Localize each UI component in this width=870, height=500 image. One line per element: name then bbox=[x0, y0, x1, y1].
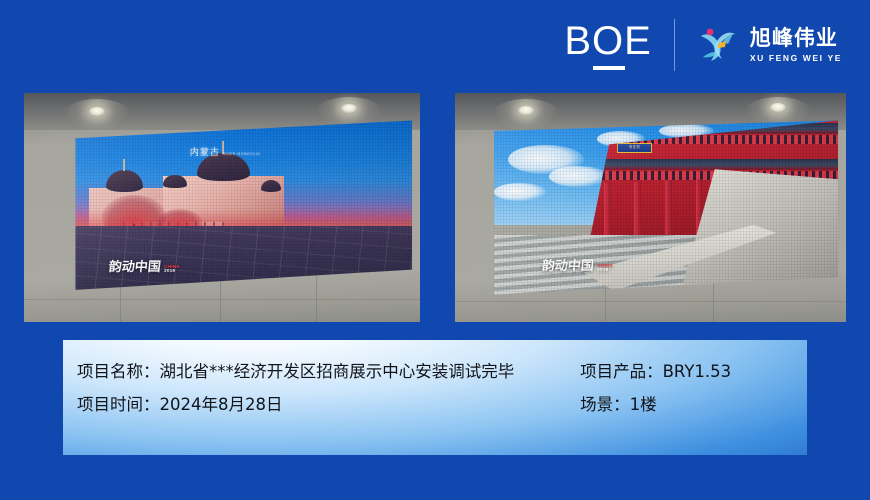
watermark-cn: 韵动中国 bbox=[108, 256, 162, 275]
overlay-title-en: INNER MONGOLIA bbox=[222, 152, 260, 156]
ceiling-spotlight bbox=[518, 106, 534, 115]
project-time-cell: 项目时间：2024年8月28日 bbox=[77, 395, 580, 415]
ceiling-spotlight bbox=[341, 104, 357, 113]
boe-underline-icon bbox=[593, 66, 625, 70]
watermark-en-bottom: 2019 bbox=[164, 269, 180, 274]
watermark-en: CHINA 2019 bbox=[597, 264, 613, 274]
cloud bbox=[549, 166, 607, 187]
temple-dome-small bbox=[163, 175, 187, 189]
logo-lockup: BOE 旭峰伟业 XU FENG WEI YE bbox=[564, 16, 842, 74]
ceiling-spotlight bbox=[770, 103, 786, 112]
lower-eave bbox=[584, 159, 839, 169]
partner-name-block: 旭峰伟业 XU FENG WEI YE bbox=[750, 26, 842, 64]
partner-name-cn: 旭峰伟业 bbox=[750, 26, 842, 50]
header-bar: BOE 旭峰伟业 XU FENG WEI YE bbox=[0, 0, 870, 90]
project-info-row: 项目名称：湖北省***经济开发区招商展示中心安装调试完毕 项目产品：BRY1.5… bbox=[77, 362, 807, 382]
watermark-en: CHINA 2019 bbox=[164, 265, 180, 275]
watermark-en-bottom: 2019 bbox=[597, 268, 613, 273]
watermark-cn: 韵动中国 bbox=[541, 255, 595, 274]
project-scene-text: 场景：1楼 bbox=[580, 395, 657, 414]
wall-base-line bbox=[455, 301, 846, 302]
watermark-left: 韵动中国 CHINA 2019 bbox=[109, 256, 180, 275]
building-spire bbox=[123, 159, 125, 171]
partner-name-en: XU FENG WEI YE bbox=[750, 52, 842, 64]
plaque-text: 崇圣祠 bbox=[618, 144, 652, 150]
project-name-cell: 项目名称：湖北省***经济开发区招商展示中心安装调试完毕 bbox=[77, 362, 580, 382]
temple-dome-small bbox=[261, 180, 281, 192]
project-name-text: 项目名称：湖北省***经济开发区招商展示中心安装调试完毕 bbox=[77, 362, 514, 381]
room-interior-right: 崇圣祠 韵动中国 CHINA 2019 bbox=[455, 93, 846, 322]
project-product-cell: 项目产品：BRY1.53 bbox=[580, 362, 807, 382]
wall-base-line bbox=[24, 299, 420, 300]
boe-logo: BOE bbox=[564, 21, 673, 70]
ceiling-light-glow bbox=[62, 99, 132, 133]
project-info-grid: 项目名称：湖北省***经济开发区招商展示中心安装调试完毕 项目产品：BRY1.5… bbox=[77, 362, 807, 428]
hall-name-plaque: 崇圣祠 bbox=[617, 143, 653, 153]
led-display-screen-right: 崇圣祠 韵动中国 CHINA 2019 bbox=[494, 120, 838, 294]
screen-overlay-title-left: 内蒙古 INNER MONGOLIA bbox=[190, 148, 260, 159]
led-display-screen-left: 内蒙古 INNER MONGOLIA 韵动中国 CHINA 2019 bbox=[75, 120, 412, 289]
installation-photo-right[interactable]: 崇圣祠 韵动中国 CHINA 2019 bbox=[455, 93, 846, 322]
overlay-title-cn: 内蒙古 bbox=[190, 148, 220, 158]
project-info-panel: 项目名称：湖北省***经济开发区招商展示中心安装调试完毕 项目产品：BRY1.5… bbox=[63, 340, 807, 455]
boe-wordmark: BOE bbox=[564, 21, 651, 61]
screen-content-left: 内蒙古 INNER MONGOLIA 韵动中国 CHINA 2019 bbox=[75, 120, 412, 289]
ceiling-light-glow bbox=[491, 99, 561, 133]
project-time-text: 项目时间：2024年8月28日 bbox=[77, 395, 283, 414]
project-scene-cell: 场景：1楼 bbox=[580, 395, 807, 415]
ceiling-spotlight bbox=[89, 107, 105, 116]
cloud bbox=[494, 183, 546, 200]
room-interior-left: 内蒙古 INNER MONGOLIA 韵动中国 CHINA 2019 bbox=[24, 93, 420, 322]
watermark-right: 韵动中国 CHINA 2019 bbox=[542, 255, 613, 274]
installation-photo-left[interactable]: 内蒙古 INNER MONGOLIA 韵动中国 CHINA 2019 bbox=[24, 93, 420, 322]
screen-content-right: 崇圣祠 韵动中国 CHINA 2019 bbox=[494, 120, 838, 294]
project-info-row: 项目时间：2024年8月28日 场景：1楼 bbox=[77, 395, 807, 415]
project-product-text: 项目产品：BRY1.53 bbox=[580, 362, 731, 381]
xufeng-bird-mark-icon bbox=[695, 22, 741, 68]
partner-logo: 旭峰伟业 XU FENG WEI YE bbox=[675, 22, 842, 68]
